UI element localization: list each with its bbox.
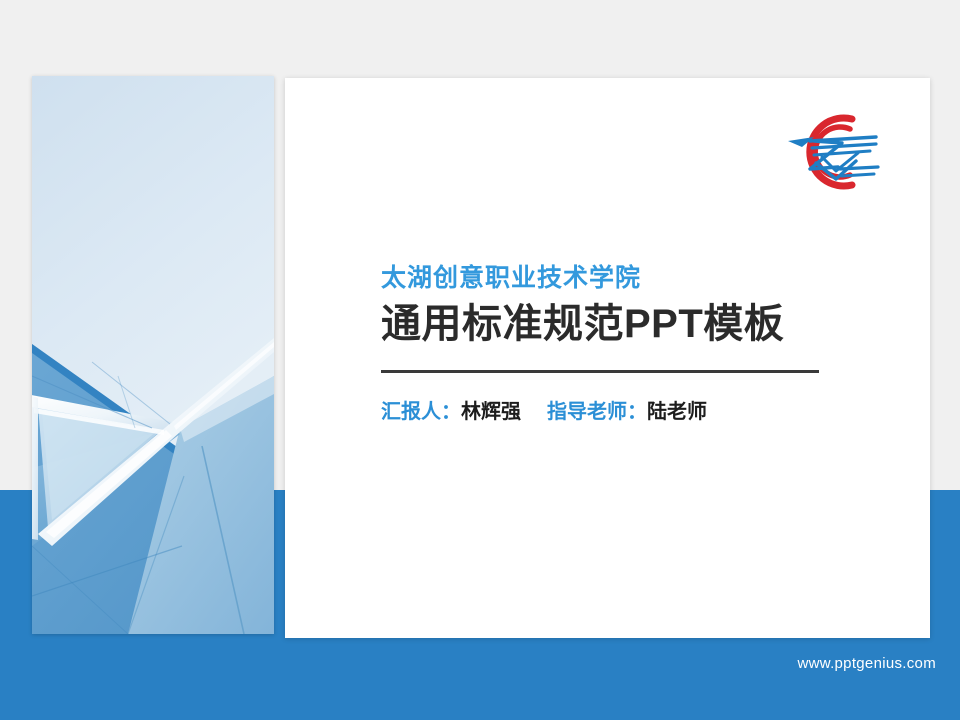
architecture-photo bbox=[32, 76, 274, 634]
footer-website-url: www.pptgenius.com bbox=[798, 655, 937, 672]
school-name: 太湖创意职业技术学院 bbox=[381, 263, 841, 294]
presentation-slide: 太湖创意职业技术学院 通用标准规范PPT模板 汇报人：林辉强指导老师：陆老师 w… bbox=[0, 0, 960, 720]
content-card: 太湖创意职业技术学院 通用标准规范PPT模板 汇报人：林辉强指导老师：陆老师 bbox=[285, 78, 930, 638]
page-title: 通用标准规范PPT模板 bbox=[381, 300, 841, 348]
taihu-college-logo-icon bbox=[780, 107, 886, 197]
presenter-row: 汇报人：林辉强指导老师：陆老师 bbox=[381, 399, 841, 425]
advisor-label: 指导老师： bbox=[547, 401, 647, 423]
presenter-name: 林辉强 bbox=[461, 401, 521, 423]
title-text-block: 太湖创意职业技术学院 通用标准规范PPT模板 汇报人：林辉强指导老师：陆老师 bbox=[381, 263, 841, 425]
architecture-photo-graphic bbox=[32, 76, 274, 634]
logo-graphic bbox=[780, 107, 886, 197]
presenter-label: 汇报人： bbox=[381, 401, 461, 423]
title-divider bbox=[381, 370, 819, 373]
advisor-name: 陆老师 bbox=[647, 401, 707, 423]
